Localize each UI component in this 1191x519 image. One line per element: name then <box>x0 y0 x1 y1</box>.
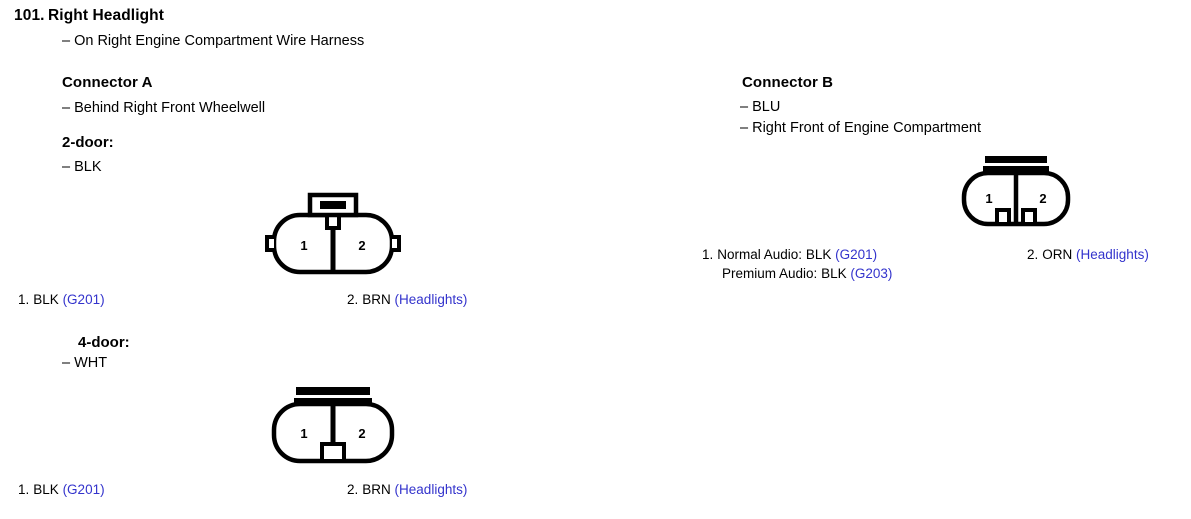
variant-4door-color: – WHT <box>62 355 107 371</box>
terminal-legend-a-4door-1: 1.BLK (G201) <box>18 482 105 497</box>
terminal-audio-label-normal: Normal Audio: <box>717 247 802 262</box>
terminal-number: 2. <box>347 292 358 307</box>
entry-number: 101. <box>14 7 45 25</box>
terminal-number: 1. <box>18 482 29 497</box>
terminal-wire: BLK <box>806 247 832 262</box>
terminal-wire: BLK <box>33 292 59 307</box>
pin-label-2: 2 <box>1039 191 1046 206</box>
bottom-notch <box>322 444 344 461</box>
terminal-audio-label-premium: Premium Audio: <box>722 266 817 281</box>
entry-location: – On Right Engine Compartment Wire Harne… <box>62 33 364 49</box>
pin-label-1: 1 <box>300 426 307 441</box>
terminal-number: 1. <box>18 292 29 307</box>
bottom-tab-left <box>997 210 1009 224</box>
terminal-legend-a-2door-2: 2.BRN (Headlights) <box>347 292 467 307</box>
top-bar-upper <box>985 156 1047 163</box>
terminal-number: 1. <box>702 247 713 262</box>
variant-2door-label: 2-door: <box>62 134 114 151</box>
terminal-legend-a-4door-2: 2.BRN (Headlights) <box>347 482 467 497</box>
terminal-legend-b-1-alt: Premium Audio: BLK (G203) <box>722 266 892 281</box>
connector-a-heading: Connector A <box>62 74 153 91</box>
top-bar-upper <box>296 387 370 395</box>
terminal-wire: BRN <box>362 482 391 497</box>
page-title: Right Headlight <box>48 7 164 25</box>
pin-label-2: 2 <box>358 426 365 441</box>
bottom-tab-right <box>1023 210 1035 224</box>
terminal-reference: (G203) <box>850 266 892 281</box>
terminal-reference: (Headlights) <box>395 292 468 307</box>
connector-symbol-b: 1 2 <box>950 152 1082 232</box>
connector-b-location: – Right Front of Engine Compartment <box>740 120 981 136</box>
variant-4door-label: 4-door: <box>78 334 130 351</box>
connector-b-color: – BLU <box>740 99 780 115</box>
terminal-number: 2. <box>347 482 358 497</box>
terminal-wire: BRN <box>362 292 391 307</box>
latch-slot <box>320 201 346 209</box>
left-nub <box>267 237 274 250</box>
terminal-legend-b-1: 1.Normal Audio: BLK (G201) <box>702 247 877 262</box>
terminal-reference: (Headlights) <box>395 482 468 497</box>
terminal-reference: (G201) <box>63 482 105 497</box>
connector-symbol-a-2door: 1 2 <box>262 192 402 282</box>
right-nub <box>392 237 399 250</box>
terminal-number: 2. <box>1027 247 1038 262</box>
terminal-reference: (G201) <box>63 292 105 307</box>
wiring-connector-page: 101. Right Headlight – On Right Engine C… <box>0 0 1191 519</box>
terminal-legend-a-2door-1: 1.BLK (G201) <box>18 292 105 307</box>
terminal-wire: BLK <box>33 482 59 497</box>
connector-a-location: – Behind Right Front Wheelwell <box>62 100 265 116</box>
pin-label-1: 1 <box>300 238 307 253</box>
terminal-wire: ORN <box>1042 247 1072 262</box>
pin-label-2: 2 <box>358 238 365 253</box>
variant-2door-color: – BLK <box>62 159 102 175</box>
terminal-reference: (Headlights) <box>1076 247 1149 262</box>
pin-label-1: 1 <box>985 191 992 206</box>
terminal-reference: (G201) <box>835 247 877 262</box>
connector-symbol-a-4door: 1 2 <box>262 382 402 468</box>
connector-b-heading: Connector B <box>742 74 833 91</box>
terminal-legend-b-2: 2.ORN (Headlights) <box>1027 247 1149 262</box>
terminal-wire: BLK <box>821 266 847 281</box>
